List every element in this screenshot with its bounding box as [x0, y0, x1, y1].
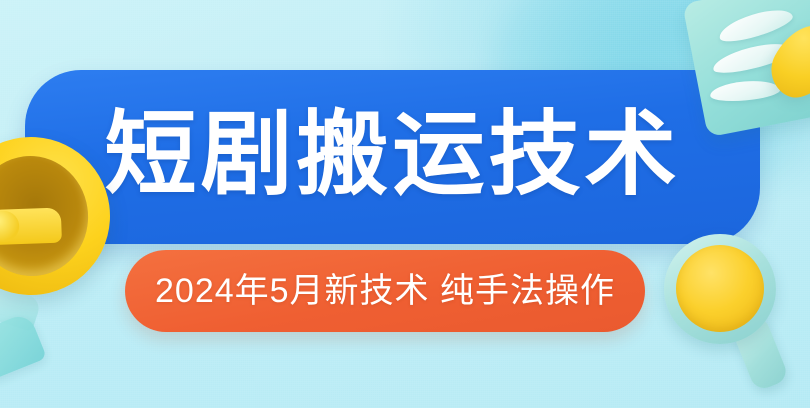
- subtitle-banner: 2024年5月新技术 纯手法操作: [125, 250, 645, 332]
- petal-icon: [709, 78, 780, 103]
- title-banner: 短剧搬运技术: [25, 70, 760, 244]
- promo-poster: 短剧搬运技术 2024年5月新技术 纯手法操作: [0, 0, 810, 408]
- page-title: 短剧搬运技术: [25, 70, 760, 244]
- magnifier-icon: [664, 234, 776, 344]
- magnifier-lens-icon: [676, 245, 764, 332]
- page-subtitle: 2024年5月新技术 纯手法操作: [125, 250, 645, 332]
- petal-icon: [716, 4, 795, 47]
